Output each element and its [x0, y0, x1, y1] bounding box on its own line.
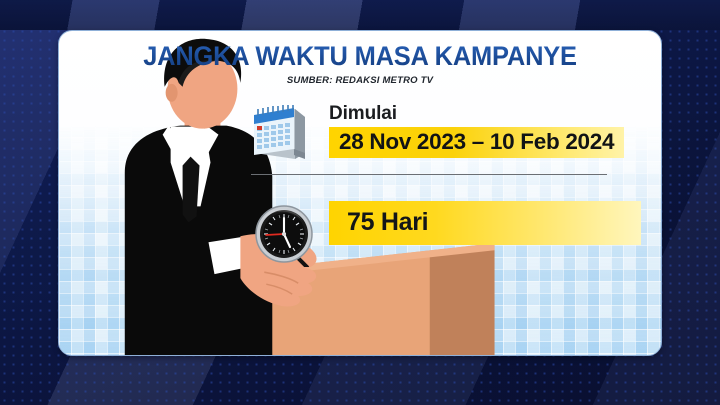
start-date-label: Dimulai [329, 103, 651, 125]
infographic-card: JANGKA WAKTU MASA KAMPANYE SUMBER: REDAK… [58, 30, 662, 356]
row-duration: 75 Hari [251, 201, 651, 245]
card-header: JANGKA WAKTU MASA KAMPANYE SUMBER: REDAK… [59, 41, 661, 86]
source-subtitle: SUMBER: REDAKSI METRO TV [59, 75, 661, 86]
calendar-icon [251, 105, 313, 163]
duration-value: 75 Hari [329, 201, 641, 245]
row-start-date: Dimulai 28 Nov 2023 – 10 Feb 2024 [251, 103, 651, 158]
start-date-value: 28 Nov 2023 – 10 Feb 2024 [329, 127, 624, 158]
clock-icon [255, 205, 315, 267]
data-rows: Dimulai 28 Nov 2023 – 10 Feb 2024 [251, 103, 651, 245]
backdrop-top-band [0, 0, 720, 30]
row-divider [251, 174, 607, 175]
page-title: JANGKA WAKTU MASA KAMPANYE [71, 41, 649, 72]
